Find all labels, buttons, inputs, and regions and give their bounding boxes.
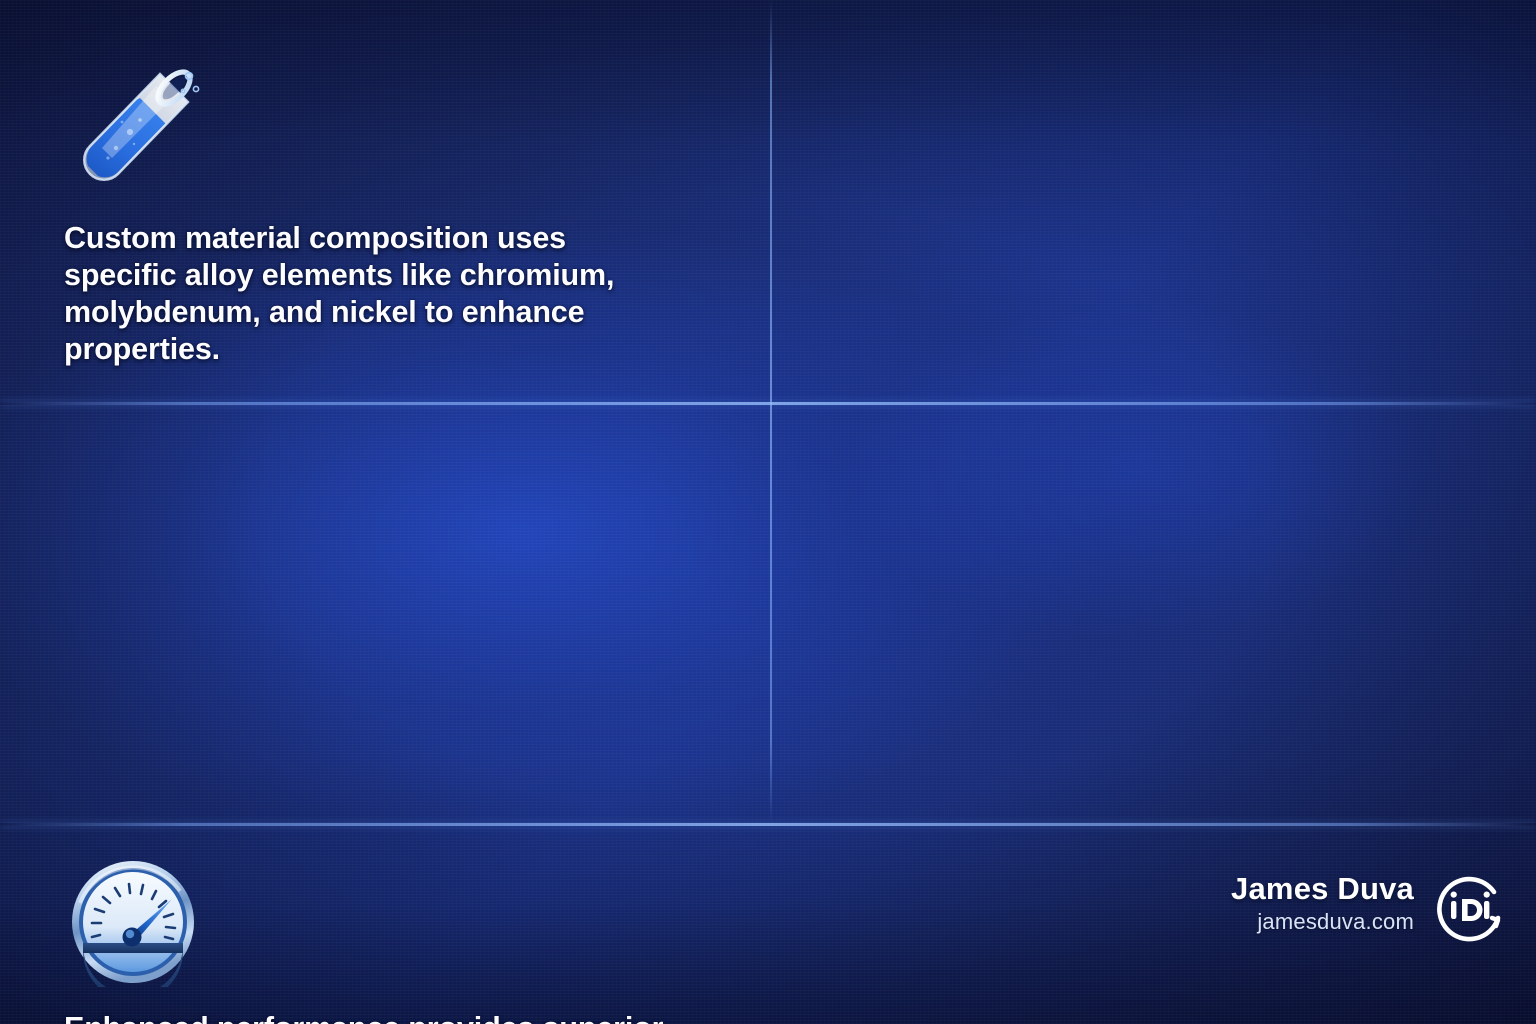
quadrant-precise-dimensions: Precise dimensions (OD, ID, wall thickne… bbox=[772, 0, 1536, 402]
quadrant-text-material-composition: Custom material composition uses specifi… bbox=[64, 220, 684, 368]
idi-logo[interactable]: iDi bbox=[1428, 866, 1512, 950]
infographic-canvas: Custom material composition uses specifi… bbox=[0, 0, 1536, 1024]
brand-block: James Duva jamesduva.com bbox=[1231, 872, 1414, 935]
footer-bar: James Duva jamesduva.com iDi bbox=[0, 824, 1536, 1024]
quadrant-application-specific-design: Application-specific design ensures pipe… bbox=[772, 405, 1536, 823]
quadrant-enhanced-performance: Enhanced performance provides superior r… bbox=[0, 405, 770, 823]
quadrant-material-composition: Custom material composition uses specifi… bbox=[0, 0, 770, 402]
test-tube-icon bbox=[70, 58, 200, 188]
brand-name: James Duva bbox=[1231, 872, 1414, 906]
brand-url[interactable]: jamesduva.com bbox=[1231, 909, 1414, 935]
idi-logo-text: iDi bbox=[1512, 866, 1513, 867]
